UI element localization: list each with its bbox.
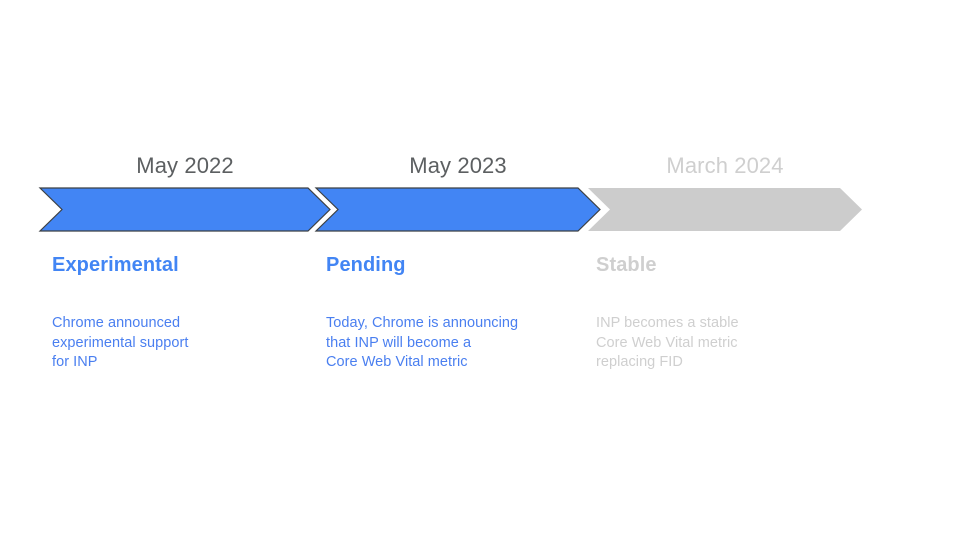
timeline-stage-heading-1: Pending (326, 252, 586, 278)
timeline-arrow-0[interactable] (40, 188, 330, 231)
timeline-stage-body-0: Chrome announced experimental support fo… (52, 278, 302, 373)
timeline-arrow-2[interactable] (588, 188, 862, 231)
timeline-date-label-0: May 2022 (40, 152, 330, 180)
timeline-date-label-2: March 2024 (588, 152, 862, 180)
timeline-date-label-1: May 2023 (316, 152, 600, 180)
timeline-stage-heading-2: Stable (596, 252, 846, 278)
timeline-stage-0: Experimental Chrome announced experiment… (52, 252, 302, 373)
timeline-stage-1: Pending Today, Chrome is announcing that… (326, 252, 586, 373)
timeline-stage-body-1: Today, Chrome is announcing that INP wil… (326, 278, 586, 373)
timeline-stage-body-2: INP becomes a stable Core Web Vital metr… (596, 278, 846, 373)
timeline-stage-heading-0: Experimental (52, 252, 302, 278)
timeline-arrow-1[interactable] (316, 188, 600, 231)
timeline-diagram: May 2022 May 2023 March 2024 Experimenta… (0, 0, 960, 540)
timeline-stage-2: Stable INP becomes a stable Core Web Vit… (596, 252, 846, 373)
